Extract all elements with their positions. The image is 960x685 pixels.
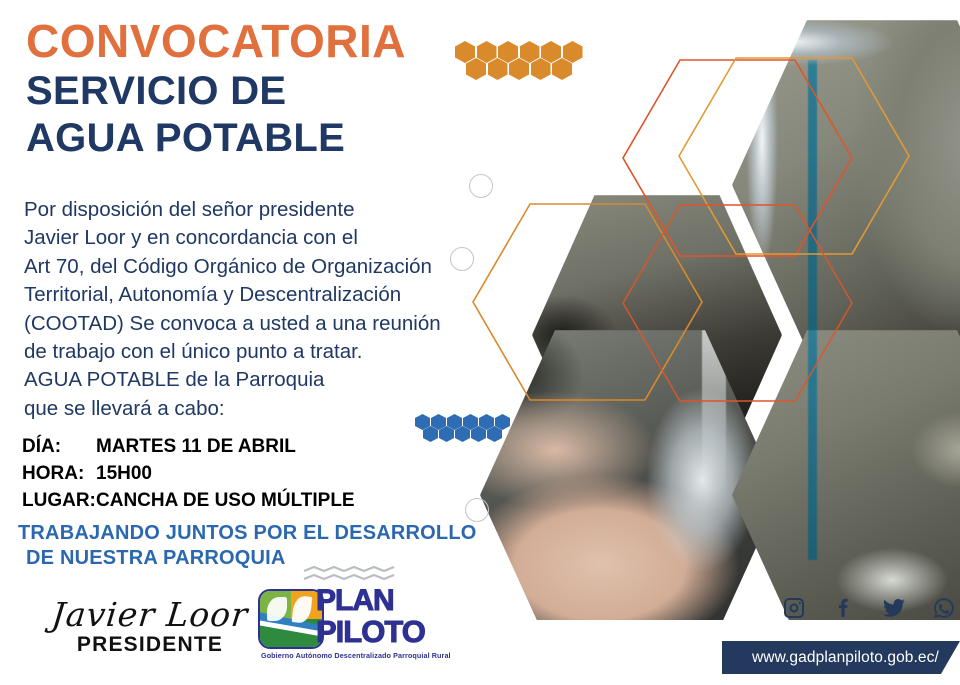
facebook-icon[interactable]	[832, 596, 856, 620]
photo-hexagon-sink	[732, 330, 960, 620]
detail-label: LUGAR:	[22, 488, 96, 515]
plan-piloto-wordmark: PLAN PILOTO	[316, 587, 425, 646]
body-copy: Por disposición del señor presidente Jav…	[24, 196, 474, 423]
detail-value: 15H00	[96, 461, 152, 488]
body-line: Javier Loor y en concordancia con el	[24, 224, 474, 252]
title-servicio-de: SERVICIO DE	[26, 69, 456, 114]
body-line: Art 70, del Código Orgánico de Organizac…	[24, 253, 474, 281]
page-title: CONVOCATORIA SERVICIO DE AGUA POTABLE	[26, 18, 456, 161]
detail-label: HORA:	[22, 461, 96, 488]
poster-canvas: CONVOCATORIA SERVICIO DE AGUA POTABLE Po…	[0, 0, 960, 685]
signature-role: PRESIDENTE	[40, 633, 260, 657]
body-line: de trabajo con el único punto a tratar.	[24, 338, 474, 366]
website-url-bar[interactable]: www.gadplanpiloto.gob.ec/	[722, 641, 960, 674]
title-agua-potable: AGUA POTABLE	[26, 116, 456, 161]
signature-block: Javier Loor PRESIDENTE	[40, 598, 260, 657]
social-links	[782, 596, 956, 620]
honeycomb-orange	[455, 41, 584, 80]
plan-piloto-logo: PLAN PILOTO Gobierno Autónomo Descentral…	[258, 589, 438, 663]
body-line: que se llevará a cabo:	[24, 395, 474, 423]
instagram-icon[interactable]	[782, 596, 806, 620]
twitter-icon[interactable]	[882, 596, 906, 620]
website-url-text: www.gadplanpiloto.gob.ec/	[722, 649, 939, 667]
whatsapp-icon[interactable]	[932, 596, 956, 620]
signature-name: Javier Loor	[38, 598, 261, 631]
slogan-line-2: DE NUESTRA PARROQUIA	[18, 546, 477, 571]
plan-piloto-badge-icon	[258, 589, 324, 649]
title-convocatoria: CONVOCATORIA	[26, 18, 456, 65]
photo-collage	[440, 0, 960, 620]
detail-value: MARTES 11 DE ABRIL	[96, 434, 296, 461]
detail-row-lugar: LUGAR: CANCHA DE USO MÚLTIPLE	[22, 488, 355, 515]
body-line: (COOTAD) Se convoca a usted a una reunió…	[24, 310, 474, 338]
detail-row-hora: HORA: 15H00	[22, 461, 355, 488]
body-line: Por disposición del señor presidente	[24, 196, 474, 224]
detail-value: CANCHA DE USO MÚLTIPLE	[96, 488, 355, 515]
detail-label: DÍA:	[22, 434, 96, 461]
body-line: Territorial, Autonomía y Descentralizaci…	[24, 281, 474, 309]
decor-circle-3	[465, 498, 489, 522]
meeting-details: DÍA: MARTES 11 DE ABRIL HORA: 15H00 LUGA…	[22, 434, 355, 515]
slogan-line-1: TRABAJANDO JUNTOS POR EL DESARROLLO	[18, 521, 477, 546]
wave-lines-icon	[302, 566, 398, 584]
logo-word-plan: PLAN	[316, 587, 425, 615]
decor-circle-1	[469, 174, 493, 198]
logo-word-piloto: PILOTO	[316, 618, 425, 647]
detail-row-dia: DÍA: MARTES 11 DE ABRIL	[22, 434, 355, 461]
body-line: AGUA POTABLE de la Parroquia	[24, 366, 474, 394]
slogan: TRABAJANDO JUNTOS POR EL DESARROLLO DE N…	[18, 521, 477, 571]
logo-tagline: Gobierno Autónomo Descentralizado Parroq…	[261, 651, 439, 660]
